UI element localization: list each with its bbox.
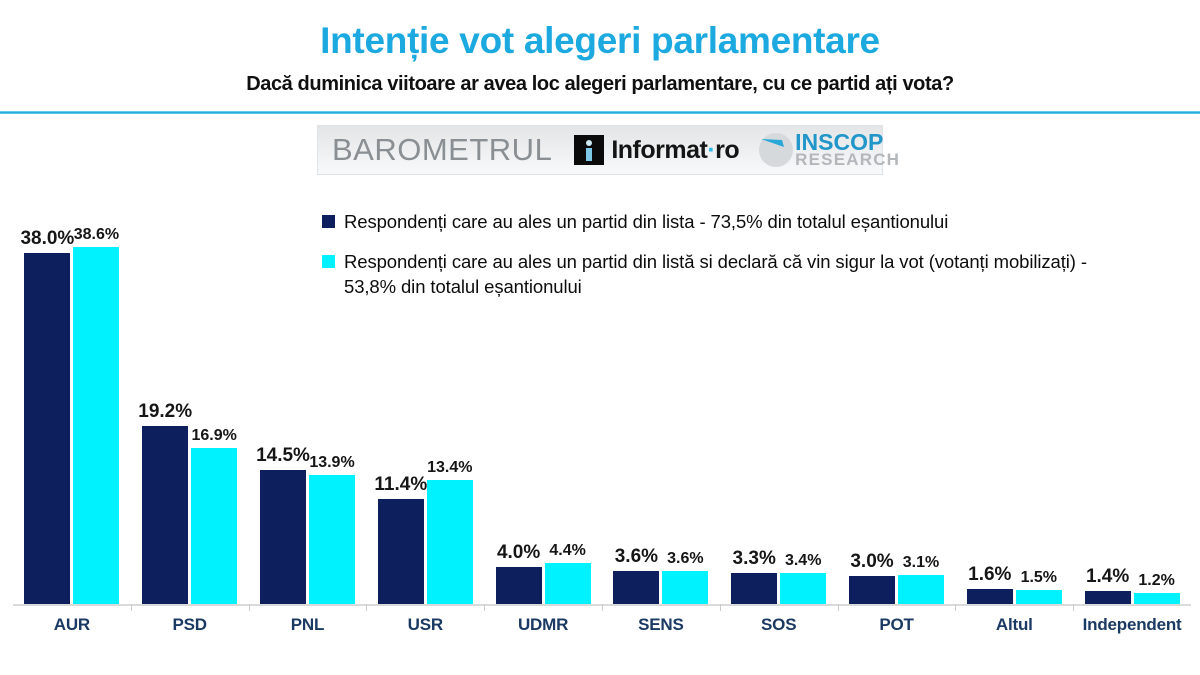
bar-secondary-psd[interactable]: 16.9% — [191, 448, 237, 604]
x-axis-label-sos: SOS — [720, 615, 838, 635]
x-axis-tick — [838, 604, 839, 611]
bar-primary-psd[interactable]: 19.2% — [142, 426, 188, 604]
bar-group: 11.4%13.4% — [377, 480, 473, 604]
x-axis-tick — [1073, 604, 1074, 611]
bar-value-label: 38.6% — [74, 226, 119, 244]
bar-value-label: 14.5% — [256, 445, 310, 467]
bar-primary-pot[interactable]: 3.0% — [849, 576, 895, 604]
bar-primary-sos[interactable]: 3.3% — [731, 573, 777, 604]
bar-group: 38.0%38.6% — [24, 247, 120, 604]
bar-secondary-usr[interactable]: 13.4% — [427, 480, 473, 604]
bar-secondary-pot[interactable]: 3.1% — [898, 575, 944, 604]
x-axis-label-aur: AUR — [13, 615, 131, 635]
bar-value-label: 1.4% — [1086, 566, 1129, 588]
bar-primary-altul[interactable]: 1.6% — [967, 589, 1013, 604]
bar-chart-plot: 38.0%38.6%AUR19.2%16.9%PSD14.5%13.9%PNL1… — [0, 0, 1200, 675]
bar-group: 1.6%1.5% — [966, 589, 1062, 604]
x-axis-label-psd: PSD — [131, 615, 249, 635]
bar-primary-usr[interactable]: 11.4% — [378, 499, 424, 604]
x-axis-label-usr: USR — [366, 615, 484, 635]
x-axis-tick — [249, 604, 250, 611]
bar-primary-udmr[interactable]: 4.0% — [496, 567, 542, 604]
bar-value-label: 1.5% — [1021, 569, 1057, 587]
bar-value-label: 3.6% — [615, 546, 658, 568]
bar-value-label: 11.4% — [374, 474, 427, 496]
bar-secondary-aur[interactable]: 38.6% — [73, 247, 119, 604]
bar-value-label: 3.1% — [903, 554, 939, 572]
bar-secondary-pnl[interactable]: 13.9% — [309, 475, 355, 604]
bar-value-label: 3.0% — [850, 551, 893, 573]
x-axis-label-independent: Independent — [1073, 615, 1191, 635]
bar-secondary-udmr[interactable]: 4.4% — [545, 563, 591, 604]
x-axis-tick — [484, 604, 485, 611]
bar-value-label: 4.0% — [497, 542, 540, 564]
bar-primary-pnl[interactable]: 14.5% — [260, 470, 306, 604]
bar-secondary-independent[interactable]: 1.2% — [1134, 593, 1180, 604]
bar-value-label: 3.6% — [667, 550, 703, 568]
bar-group: 1.4%1.2% — [1084, 591, 1180, 604]
x-axis-tick — [955, 604, 956, 611]
x-axis-tick — [602, 604, 603, 611]
bar-value-label: 4.4% — [549, 542, 585, 560]
bar-value-label: 19.2% — [138, 401, 192, 423]
bar-value-label: 3.3% — [733, 548, 776, 570]
x-axis-tick — [131, 604, 132, 611]
bar-primary-independent[interactable]: 1.4% — [1085, 591, 1131, 604]
bar-secondary-altul[interactable]: 1.5% — [1016, 590, 1062, 604]
bar-secondary-sos[interactable]: 3.4% — [780, 573, 826, 604]
bar-group: 4.0%4.4% — [495, 563, 591, 604]
x-axis-label-pot: POT — [838, 615, 956, 635]
bar-value-label: 3.4% — [785, 552, 821, 570]
bar-value-label: 13.4% — [427, 459, 472, 477]
bar-primary-aur[interactable]: 38.0% — [24, 253, 70, 604]
x-axis-label-pnl: PNL — [249, 615, 367, 635]
bar-secondary-sens[interactable]: 3.6% — [662, 571, 708, 604]
bar-value-label: 13.9% — [309, 454, 354, 472]
bar-group: 3.6%3.6% — [613, 571, 709, 604]
bar-group: 3.3%3.4% — [731, 573, 827, 604]
bar-value-label: 16.9% — [192, 427, 237, 445]
bar-value-label: 1.2% — [1138, 572, 1174, 590]
x-axis-label-sens: SENS — [602, 615, 720, 635]
bar-group: 14.5%13.9% — [260, 470, 356, 604]
x-axis-label-udmr: UDMR — [484, 615, 602, 635]
bar-primary-sens[interactable]: 3.6% — [613, 571, 659, 604]
bar-value-label: 38.0% — [20, 228, 74, 250]
bar-group: 19.2%16.9% — [142, 426, 238, 604]
x-axis-tick — [720, 604, 721, 611]
bar-group: 3.0%3.1% — [849, 575, 945, 604]
x-axis-label-altul: Altul — [955, 615, 1073, 635]
bar-value-label: 1.6% — [968, 564, 1011, 586]
x-axis-tick — [366, 604, 367, 611]
